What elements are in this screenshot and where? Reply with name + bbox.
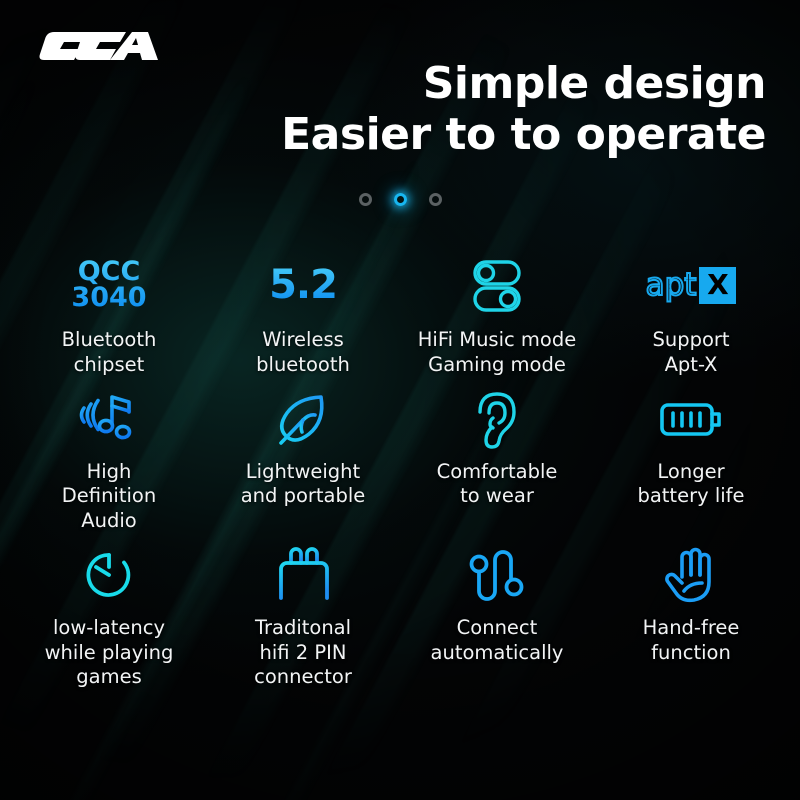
feature-item-sound-modes: HiFi Music mode Gaming mode (400, 252, 594, 378)
qcc-line-2: 3040 (71, 282, 146, 313)
bluetooth-version-text-icon: 5.2 (269, 252, 337, 318)
feature-item-aptx: apt X Support Apt-X (594, 252, 788, 378)
feature-item-connect-automatically: Connect automatically (400, 544, 594, 690)
carousel-dots[interactable] (0, 193, 800, 206)
feature-label: High Definition Audio (62, 460, 156, 534)
carousel-dot-2[interactable] (394, 193, 407, 206)
feature-item-bluetooth-chipset: QCC 3040 Bluetooth chipset (12, 252, 206, 378)
open-hand-icon (660, 544, 722, 606)
battery-icon (656, 388, 726, 450)
ear-icon (468, 388, 526, 450)
feature-label: Lightweight and portable (241, 460, 366, 510)
feature-label: Support Apt-X (652, 328, 729, 378)
auto-connect-icon (466, 544, 528, 606)
page-title: Simple design Easier to to operate (0, 58, 766, 160)
feature-label: HiFi Music mode Gaming mode (418, 328, 576, 378)
two-pin-connector-icon (271, 544, 335, 606)
carousel-dot-3[interactable] (429, 193, 442, 206)
feature-label: Connect automatically (431, 616, 564, 666)
leaf-icon (273, 388, 333, 450)
stopwatch-icon (79, 544, 139, 606)
feature-grid: QCC 3040 Bluetooth chipset 5.2 Wireless … (12, 252, 788, 690)
feature-item-lightweight: Lightweight and portable (206, 388, 400, 534)
feature-label: Longer battery life (637, 460, 744, 510)
product-feature-poster: Simple design Easier to to operate QCC 3… (0, 0, 800, 800)
feature-label: Wireless bluetooth (256, 328, 350, 378)
aptx-wordmark: apt (646, 270, 697, 301)
music-notes-waves-icon (76, 388, 142, 450)
qcc-3040-text-icon: QCC 3040 (71, 252, 146, 318)
headline-line-1: Simple design (423, 58, 766, 109)
feature-item-low-latency: low-latency while playing games (12, 544, 206, 690)
feature-label: Hand-free function (643, 616, 740, 666)
feature-item-high-definition-audio: High Definition Audio (12, 388, 206, 534)
feature-label: Comfortable to wear (437, 460, 558, 510)
toggle-switches-icon (466, 252, 528, 318)
feature-item-hands-free: Hand-free function (594, 544, 788, 690)
feature-label: Traditonal hifi 2 PIN connector (254, 616, 352, 690)
feature-item-two-pin-connector: Traditonal hifi 2 PIN connector (206, 544, 400, 690)
headline-line-2: Easier to to operate (0, 109, 766, 160)
aptx-logo-icon: apt X (646, 252, 737, 318)
carousel-dot-1[interactable] (359, 193, 372, 206)
aptx-x-badge: X (699, 267, 736, 304)
bluetooth-version-value: 5.2 (269, 266, 337, 305)
feature-item-longer-battery: Longer battery life (594, 388, 788, 534)
feature-item-comfortable-to-wear: Comfortable to wear (400, 388, 594, 534)
feature-label: Bluetooth chipset (62, 328, 157, 378)
feature-item-wireless-bluetooth: 5.2 Wireless bluetooth (206, 252, 400, 378)
feature-label: low-latency while playing games (45, 616, 174, 690)
